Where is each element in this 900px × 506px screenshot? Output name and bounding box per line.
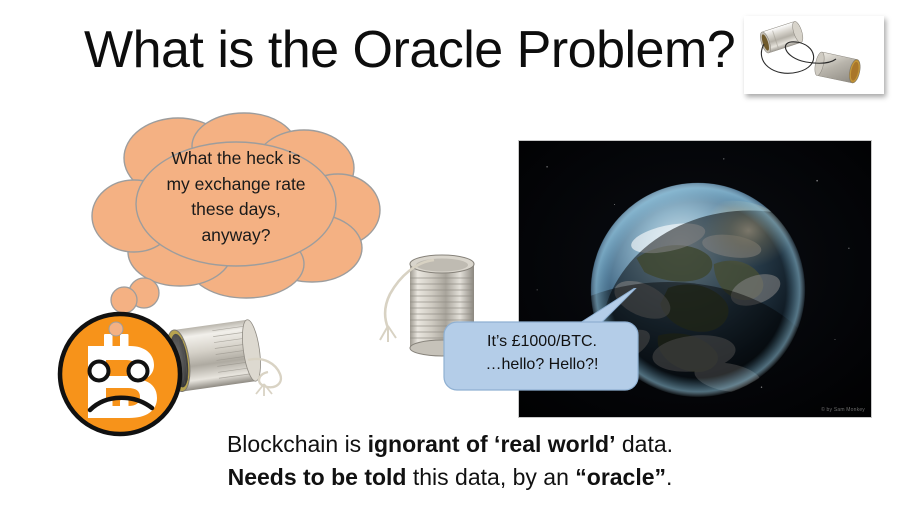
- page-title: What is the Oracle Problem?: [84, 22, 744, 79]
- caption-l2-part2: .: [666, 464, 672, 490]
- caption-l2-part1: this data, by an: [406, 464, 575, 490]
- caption-l1-bold1: ignorant of ‘real world’: [368, 431, 616, 457]
- speech-bubble: It’s £1000/BTC. …hello? Hello?!: [442, 288, 642, 398]
- thought-bubble-text: What the heck is my exchange rate these …: [128, 146, 344, 249]
- caption-l2-bold1: Needs to be told: [228, 464, 407, 490]
- caption-l2-bold2: “oracle”: [575, 464, 666, 490]
- thought-trail-dot-icon: [105, 318, 127, 340]
- tin-can-telephone-icon: [744, 16, 884, 94]
- slide-canvas: What is the Oracle Problem?: [0, 0, 900, 506]
- speech-bubble-text: It’s £1000/BTC. …hello? Hello?!: [458, 331, 626, 376]
- thought-bubble: What the heck is my exchange rate these …: [86, 112, 386, 312]
- caption-line-1: Blockchain is ignorant of ‘real world’ d…: [130, 428, 770, 461]
- earth-photo-credit: © by Sam Monkey: [821, 407, 865, 413]
- caption-line-2: Needs to be told this data, by an “oracl…: [130, 461, 770, 494]
- caption-l1-part1: Blockchain is: [227, 431, 368, 457]
- caption-l1-part2: data.: [615, 431, 673, 457]
- caption: Blockchain is ignorant of ‘real world’ d…: [130, 428, 770, 493]
- tin-can-telephone-thumbnail: [744, 16, 884, 94]
